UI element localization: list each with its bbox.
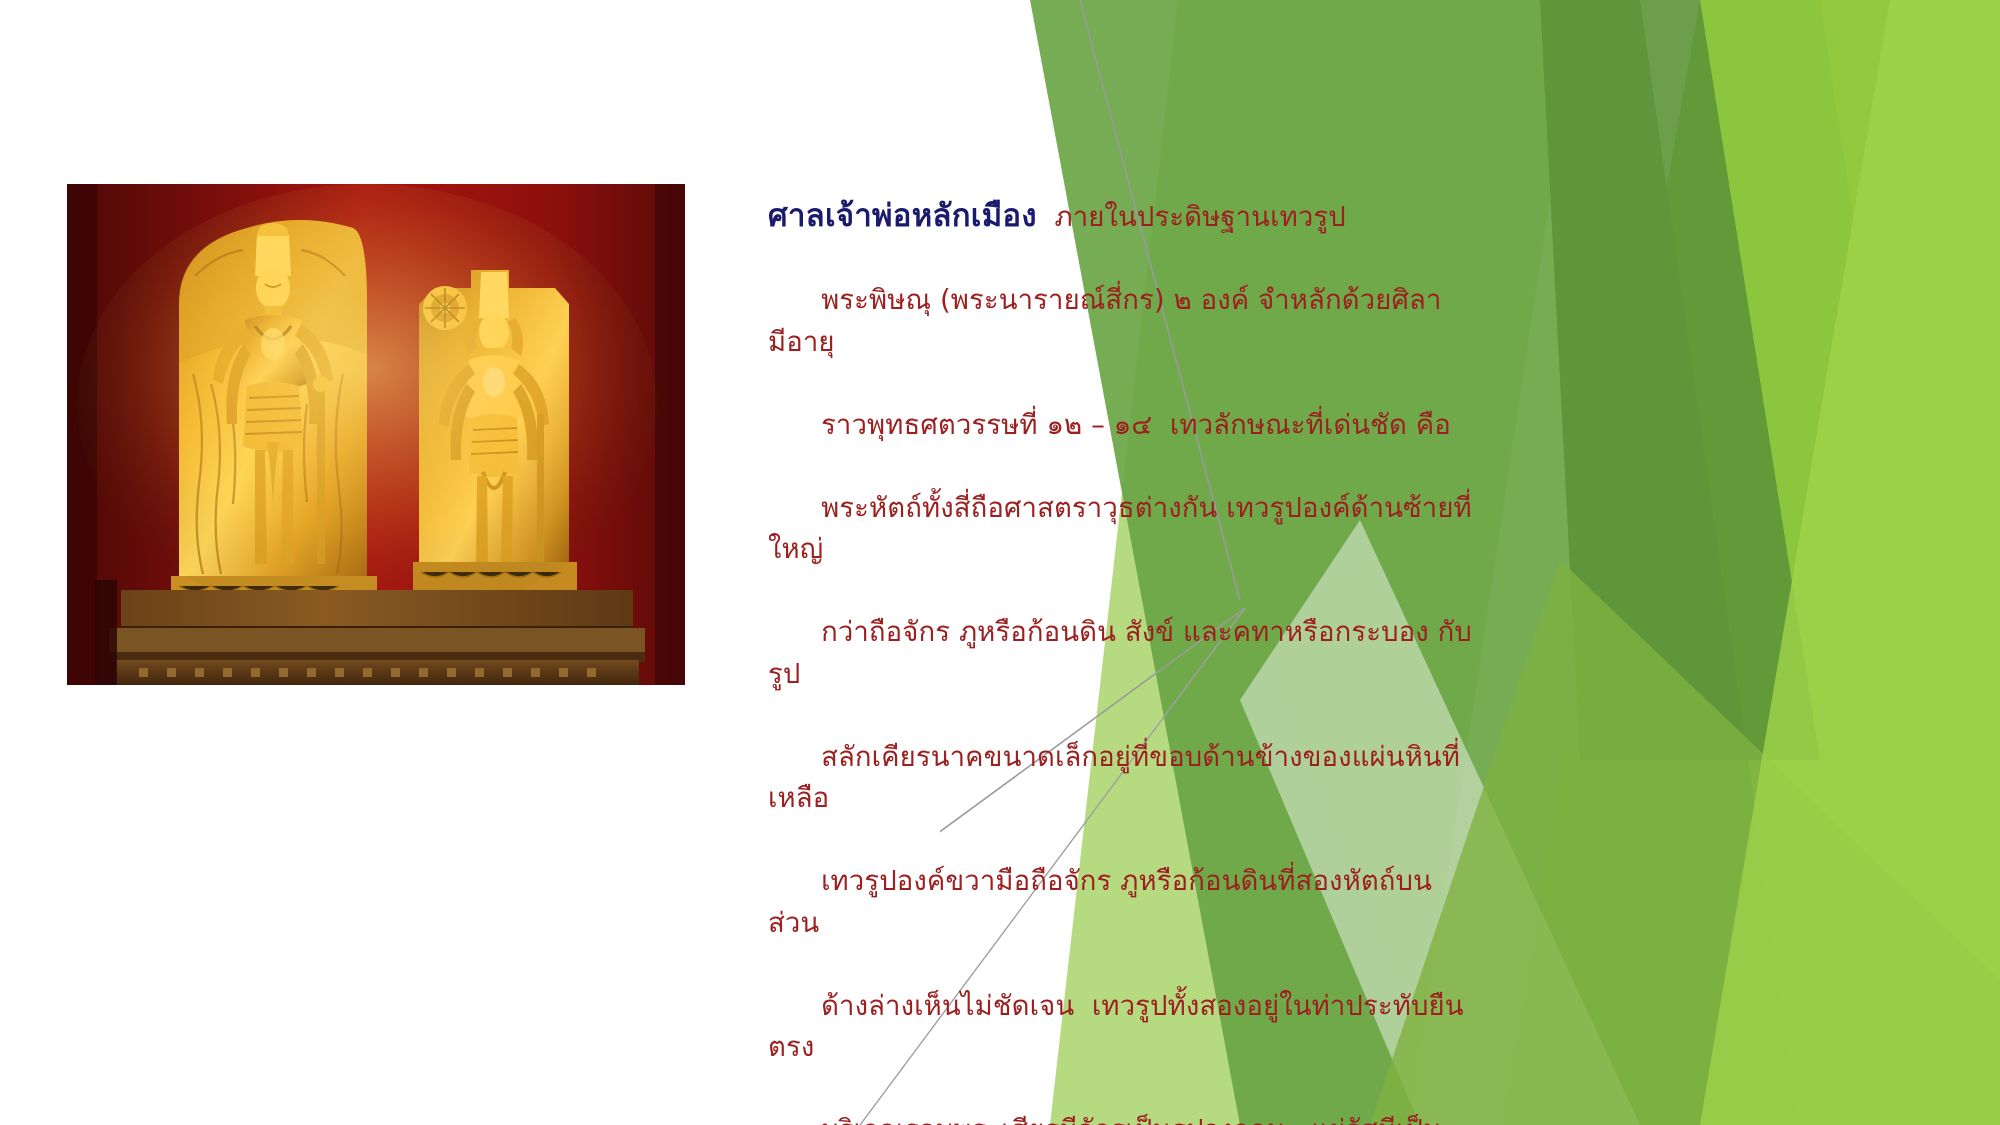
body-line: กว่าถือจักร ภูหรือก้อนดิน สังข์ และคทาหร… xyxy=(768,616,1472,690)
body-line: สลักเคียรนาคขนาดเล็กอยู่ที่ขอบด้านข้างขอ… xyxy=(768,741,1460,815)
body-line: พระพิษณุ (พระนารายณ์สี่กร) ๒ องค์ จำหลัก… xyxy=(768,284,1442,358)
body-line: ราวพุทธศตวรรษที่ ๑๒ – ๑๔ เทวลักษณะที่เด่… xyxy=(821,409,1451,441)
page-title: ศาลเจ้าพ่อหลักเมือง xyxy=(768,198,1037,234)
description-text-block: ศาลเจ้าพ่อหลักเมือง ภายในประดิษฐานเทวรูป… xyxy=(768,196,1473,1125)
facet-shape-bright-sliver xyxy=(1820,0,2000,520)
body-line: พระหัตถ์ทั้งสี่ถือศาสตราวุธต่างกัน เทวรู… xyxy=(768,492,1472,566)
facet-shape-brightest-strip xyxy=(1700,0,2000,1125)
body-line: ด้างล่างเห็นไม่ชัดเจน เทวรูปทั้งสองอยู่ใ… xyxy=(768,990,1464,1064)
intro-text: ภายในประดิษฐานเทวรูป xyxy=(1037,201,1346,233)
facet-shape-dark-overlap xyxy=(1540,0,1820,760)
statue-photo-illustration xyxy=(67,184,685,685)
slide-canvas: ศาลเจ้าพ่อหลักเมือง ภายในประดิษฐานเทวรูป… xyxy=(0,0,2000,1125)
facet-shape-bright-right xyxy=(1500,0,2000,1125)
description-paragraph: ศาลเจ้าพ่อหลักเมือง ภายในประดิษฐานเทวรูป… xyxy=(768,196,1473,1125)
statue-photo xyxy=(67,184,685,685)
body-line: บริเวณรอบพระเศียรมีจักรเป็นรูปวงกลม แผ่ร… xyxy=(768,1114,1442,1125)
body-line: เทวรูปองค์ขวามือถือจักร ภูหรือก้อนดินที่… xyxy=(768,865,1441,939)
